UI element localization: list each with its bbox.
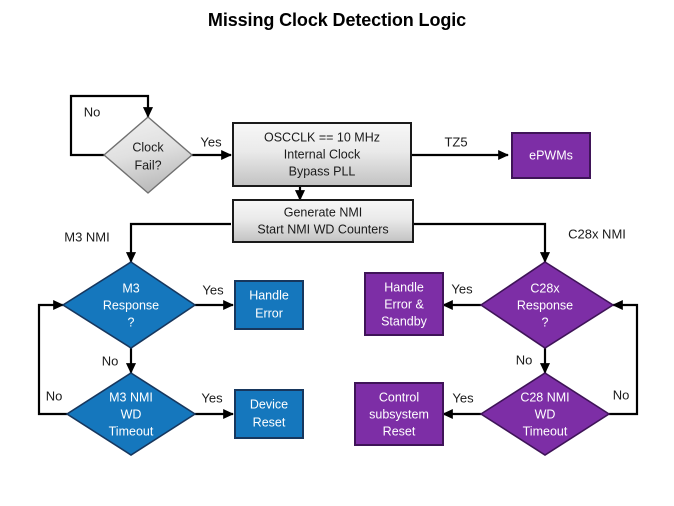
label-m3-response-no: No	[102, 353, 119, 368]
c28x-response-line-1: C28x	[530, 281, 560, 295]
label-clock-fail-yes: Yes	[200, 134, 222, 149]
device-reset-line-2: Reset	[253, 415, 286, 429]
m3-wd-line-1: M3 NMI	[109, 390, 153, 404]
generate-nmi-line-1: Generate NMI	[284, 205, 363, 219]
device-reset-line-1: Device	[250, 397, 288, 411]
m3-response-line-2: Response	[103, 298, 159, 312]
oscclk-line-3: Bypass PLL	[289, 164, 356, 178]
clock-fail-diamond-shape	[104, 117, 192, 193]
flowchart-canvas: Clock Fail? OSCCLK == 10 MHz Internal Cl…	[0, 0, 674, 506]
epwms-label: ePWMs	[529, 148, 573, 162]
label-tz5: TZ5	[444, 134, 467, 149]
label-m3-nmi: M3 NMI	[64, 229, 110, 244]
control-reset-line-3: Reset	[383, 424, 416, 438]
node-handle-error[interactable]: Handle Error	[235, 281, 303, 329]
clock-fail-line-2: Fail?	[134, 158, 161, 172]
node-m3-wd-timeout[interactable]: M3 NMI WD Timeout	[67, 373, 195, 455]
node-c28-wd-timeout[interactable]: C28 NMI WD Timeout	[481, 373, 609, 455]
node-generate-nmi[interactable]: Generate NMI Start NMI WD Counters	[233, 200, 413, 242]
handle-error-standby-line-2: Error &	[384, 297, 424, 311]
m3-response-line-3: ?	[128, 315, 135, 329]
m3-wd-line-2: WD	[121, 407, 142, 421]
label-m3-wd-no: No	[46, 388, 63, 403]
node-device-reset[interactable]: Device Reset	[235, 390, 303, 438]
c28-wd-line-3: Timeout	[523, 424, 568, 438]
control-reset-line-1: Control	[379, 390, 419, 404]
node-epwms[interactable]: ePWMs	[512, 133, 590, 178]
node-control-subsystem-reset[interactable]: Control subsystem Reset	[355, 383, 443, 445]
oscclk-line-2: Internal Clock	[284, 147, 361, 161]
label-c28x-response-yes: Yes	[451, 281, 473, 296]
node-handle-error-standby[interactable]: Handle Error & Standby	[365, 273, 443, 335]
label-c28-wd-yes: Yes	[452, 390, 474, 405]
label-m3-wd-yes: Yes	[201, 390, 223, 405]
c28-wd-line-2: WD	[535, 407, 556, 421]
label-clock-fail-no: No	[84, 104, 101, 119]
c28x-response-line-3: ?	[542, 315, 549, 329]
control-reset-line-2: subsystem	[369, 407, 429, 421]
node-m3-response[interactable]: M3 Response ?	[63, 262, 195, 348]
clock-fail-line-1: Clock	[132, 140, 164, 154]
oscclk-line-1: OSCCLK == 10 MHz	[264, 130, 380, 144]
edge-c28x-nmi-branch	[413, 224, 545, 262]
label-m3-response-yes: Yes	[202, 282, 224, 297]
handle-error-line-1: Handle	[249, 288, 289, 302]
handle-error-standby-line-3: Standby	[381, 314, 428, 328]
flowchart-diagram: Missing Clock Detection Logic	[0, 0, 674, 506]
handle-error-standby-line-1: Handle	[384, 280, 424, 294]
m3-wd-line-3: Timeout	[109, 424, 154, 438]
m3-response-line-1: M3	[122, 281, 139, 295]
label-c28x-nmi: C28x NMI	[568, 226, 626, 241]
handle-error-line-2: Error	[255, 306, 283, 320]
label-c28x-response-no: No	[516, 352, 533, 367]
edge-m3-nmi-branch	[131, 224, 231, 262]
node-c28x-response[interactable]: C28x Response ?	[481, 262, 613, 348]
generate-nmi-line-2: Start NMI WD Counters	[257, 222, 388, 236]
node-clock-fail[interactable]: Clock Fail?	[104, 117, 192, 193]
c28x-response-line-2: Response	[517, 298, 573, 312]
label-c28-wd-no: No	[613, 387, 630, 402]
node-oscclk[interactable]: OSCCLK == 10 MHz Internal Clock Bypass P…	[233, 123, 411, 186]
c28-wd-line-1: C28 NMI	[520, 390, 569, 404]
